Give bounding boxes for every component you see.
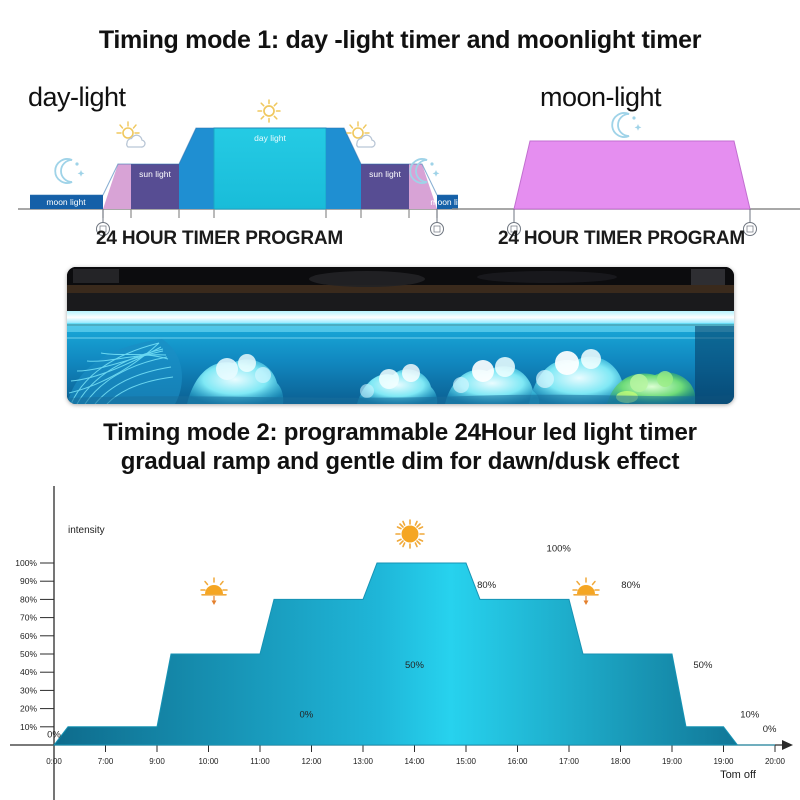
y-tick-label: 60% [20,631,37,641]
x-tick-label: 13:00 [353,757,374,766]
x-tick-label: 19:00 [662,757,683,766]
x-tick-label: 9:00 [149,757,165,766]
y-tick-label: 10% [20,722,37,732]
page-title-mode2-line2: gradual ramp and gentle dim for dawn/dus… [121,448,680,475]
x-tick-label: 12:00 [301,757,322,766]
band-day-ramp-right [326,128,361,209]
data-label: 50% [405,660,425,671]
x-axis-arrow [782,740,793,750]
x-tick-label: 17:00 [559,757,580,766]
y-tick-label: 80% [20,594,37,604]
off-time-marker [744,209,757,236]
half-sun-icon [573,578,599,605]
y-tick-label: 30% [20,685,37,695]
x-tick-label: 0:00 [46,757,62,766]
x-tick-label: 7:00 [98,757,114,766]
daylight-tick-group [103,209,437,218]
y-tick-group: 10%20%30%40%50%60%70%80%90%100% [15,558,54,732]
x-tick-label: 16:00 [507,757,528,766]
y-axis-title: intensity [68,525,105,536]
band-label-sun-light-left: sun light [139,169,171,179]
data-label: 80% [621,580,641,591]
moon-icon [612,113,641,137]
page-title-mode2-line1: Timing mode 2: programmable 24Hour led l… [103,419,697,446]
band-label-sun-light-right: sun light [369,169,401,179]
daylight-diagram: moon light sun light day light sun light… [18,96,458,236]
intensity-area [54,563,775,745]
data-label: 0% [47,729,61,740]
y-tick-label: 70% [20,613,37,623]
x-tick-label: 20:00 [765,757,786,766]
sun-behind-cloud-icon [117,122,145,147]
data-label: 50% [693,660,713,671]
page-title-mode1: Timing mode 1: day -light timer and moon… [0,26,800,55]
aquarium-photo-svg [67,267,734,404]
y-tick-label: 100% [15,558,37,568]
data-label: 80% [477,580,497,591]
data-label: 0% [763,724,777,735]
y-tick-label: 20% [20,704,37,714]
data-label: 10% [740,709,760,720]
sun-icon [258,100,280,122]
off-time-marker [431,209,444,236]
x-tick-label: 19:00 [713,757,734,766]
daylight-program-caption: 24 HOUR TIMER PROGRAM [96,228,343,250]
y-tick-label: 90% [20,576,37,586]
moon-icon [55,159,84,183]
y-tick-label: 40% [20,667,37,677]
x-tick-label: 11:00 [250,757,270,766]
x-tick-group: 0:007:009:0010:0011:0012:0013:0014:0015:… [46,745,785,766]
x-tick-label: 14:00 [404,757,425,766]
timer-profile-chart: intensity 10%20%30%40%50%60%70%80%90%100… [0,478,800,800]
band-label-day-light: day light [254,133,286,143]
band-day-ramp-left [179,128,214,209]
x-tick-label: 15:00 [456,757,477,766]
half-sun-icon [201,578,227,605]
moonlight-program-caption: 24 HOUR TIMER PROGRAM [498,228,745,250]
aquarium-photo [67,267,734,404]
band-label-moon-light-left: moon light [46,197,86,207]
moonlight-trapezoid [514,141,750,209]
y-tick-label: 50% [20,649,37,659]
x-tick-label: 18:00 [610,757,631,766]
moonlight-diagram [452,96,800,236]
page-title-mode2: Timing mode 2: programmable 24Hour led l… [0,418,800,477]
sun-icon [396,520,424,548]
data-label: 100% [547,544,572,555]
page-root: Timing mode 1: day -light timer and moon… [0,0,800,800]
timer-off-note: Tom off [720,769,757,781]
data-label: 0% [299,709,313,720]
x-tick-label: 10:00 [198,757,219,766]
